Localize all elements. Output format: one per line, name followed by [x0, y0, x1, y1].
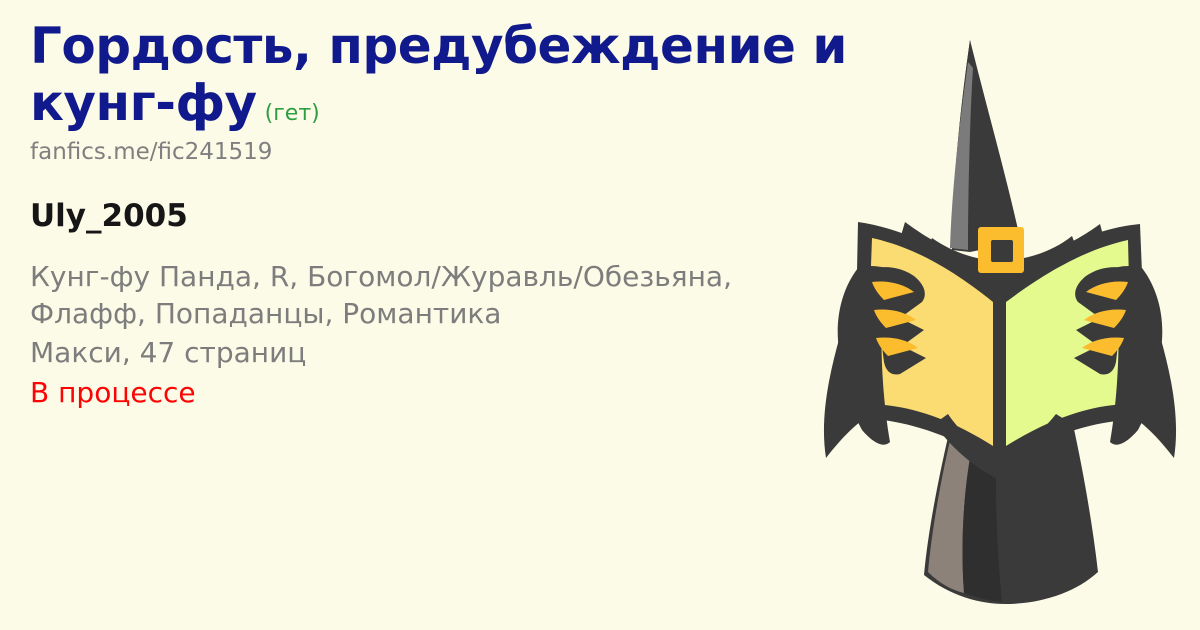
- page-title: Гордость, предубеждение и кунг-фу(гет): [30, 18, 860, 132]
- hat-cone-body: [952, 40, 1022, 250]
- author-name: Uly_2005: [30, 198, 860, 234]
- book-page-right: [1006, 240, 1132, 446]
- finger-gap-2: [874, 309, 916, 328]
- hat-brim: [926, 236, 1078, 277]
- robe-highlight-panel: [928, 424, 976, 593]
- finger-gap-6: [1082, 337, 1124, 356]
- page-title-text: Гордость, предубеждение и кунг-фу: [30, 17, 847, 132]
- book-page-left: [866, 238, 993, 446]
- source-url: fanfics.me/fic241519: [30, 139, 860, 165]
- metadata-fandom-tags: Кунг-фу Панда, R, Богомол/Журавль/Обезья…: [30, 259, 830, 332]
- title-category-label: (гет): [257, 101, 320, 126]
- wizard-reading-book-icon: [800, 0, 1200, 630]
- hat-highlight-stripe: [950, 62, 973, 250]
- metadata-size: Макси, 47 страниц: [30, 335, 860, 372]
- cloak-shoulders: [892, 222, 1112, 303]
- wizard-reading-book-illustration: [800, 0, 1200, 630]
- finger-gap-1: [872, 281, 914, 300]
- robe-shadow-panel: [963, 424, 1003, 602]
- hat-cone-dark: [952, 40, 1005, 252]
- finger-gap-5: [1084, 309, 1126, 328]
- robe-body: [924, 420, 1098, 604]
- right-sleeve-tail: [1122, 336, 1176, 458]
- text-column: Гордость, предубеждение и кунг-фу(гет) f…: [30, 18, 860, 412]
- status-badge: В процессе: [30, 375, 860, 412]
- robe-collar: [934, 414, 1072, 480]
- right-hand: [1074, 266, 1162, 445]
- metadata-block: Кунг-фу Панда, R, Богомол/Журавль/Обезья…: [30, 259, 860, 412]
- hat-buckle-icon: [978, 227, 1024, 273]
- fanfic-preview-card: Гордость, предубеждение и кунг-фу(гет) f…: [0, 0, 1200, 630]
- finger-gap-3: [876, 337, 918, 356]
- book-cover-outline: [854, 222, 1148, 464]
- book-spine: [996, 296, 1004, 452]
- finger-gap-4: [1086, 281, 1128, 300]
